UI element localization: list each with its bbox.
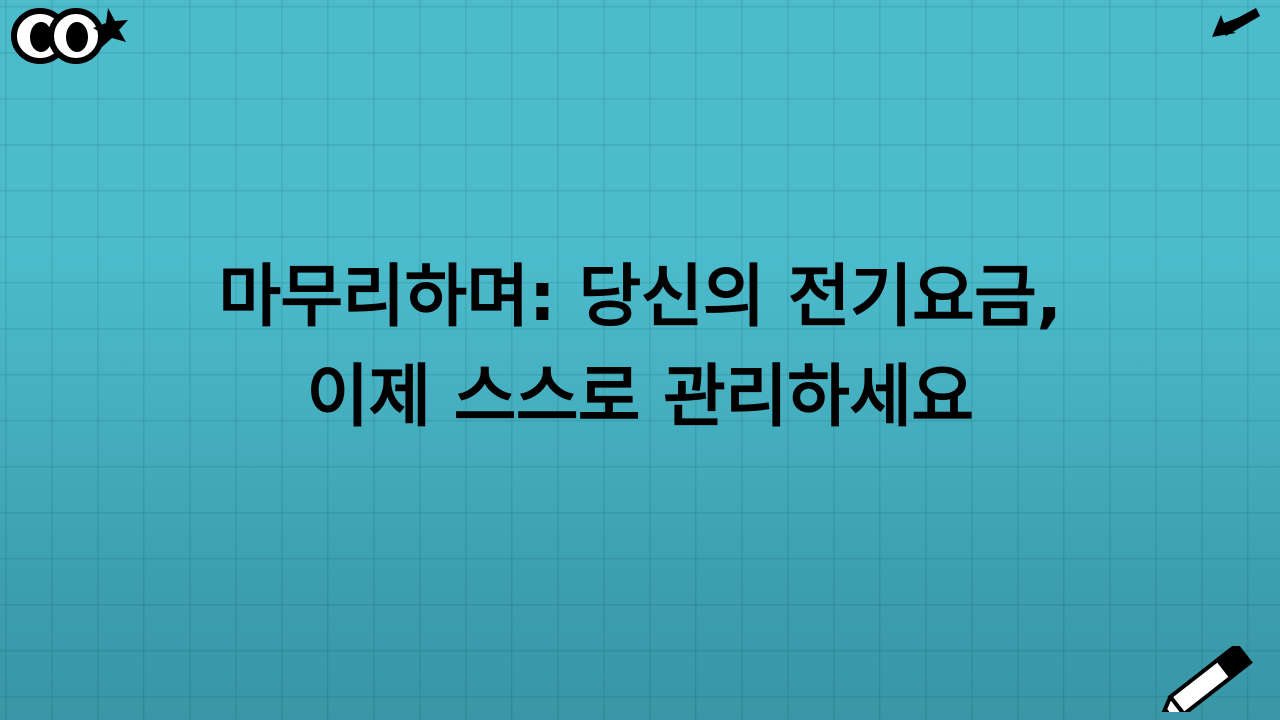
page-title-line-1: 마무리하며: 당신의 전기요금,: [110, 248, 1170, 348]
page-title-line-2: 이제 스스로 관리하세요: [110, 348, 1170, 448]
slide-canvas: 마무리하며: 당신의 전기요금, 이제 스스로 관리하세요: [0, 0, 1280, 720]
headline-block: 마무리하며: 당신의 전기요금, 이제 스스로 관리하세요: [0, 0, 1280, 720]
page-title: 마무리하며: 당신의 전기요금, 이제 스스로 관리하세요: [110, 248, 1170, 448]
